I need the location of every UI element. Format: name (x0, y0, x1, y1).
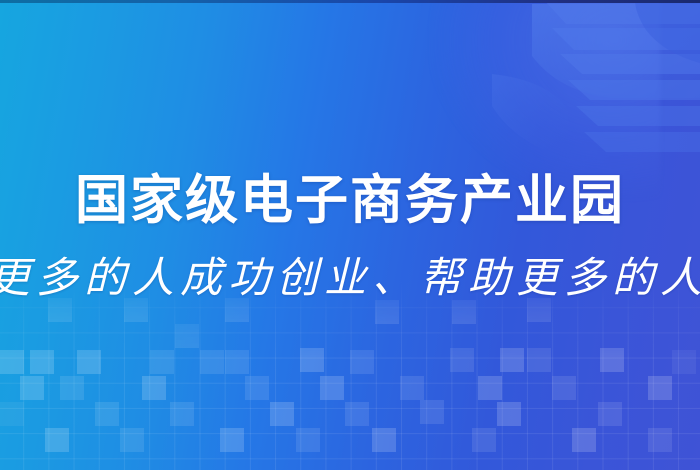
mosaic-cell (120, 428, 144, 452)
mosaic-cell (372, 428, 396, 452)
mosaic-cell (200, 350, 224, 374)
stacked-layers-svg (440, 0, 700, 214)
mosaic-cell (648, 376, 672, 400)
mosaic-cell (296, 428, 320, 452)
top-accent-strip (0, 0, 700, 3)
mosaic-cell (300, 348, 324, 372)
mosaic-cell (220, 428, 244, 452)
mosaic-cell (30, 350, 54, 374)
mosaic-cell (478, 376, 502, 400)
mosaic-cell (170, 402, 194, 426)
mosaic-cell (472, 428, 496, 452)
mosaic-cell (60, 376, 84, 400)
mosaic-cell (648, 428, 672, 452)
mosaic-cell (572, 428, 596, 452)
mosaic-cell (500, 348, 524, 372)
mosaic-cell (400, 376, 424, 400)
mosaic-cell (142, 376, 166, 400)
mosaic-cell (350, 350, 374, 374)
mosaic-cell (375, 300, 399, 324)
mosaic-cell (0, 402, 24, 426)
mosaic-cell (672, 350, 696, 374)
mosaic-cell (225, 298, 249, 322)
mosaic-cell (600, 348, 624, 372)
mosaic-cell (598, 402, 622, 426)
mosaic-cell (497, 402, 521, 426)
mosaic-cell (150, 350, 174, 374)
mosaic-cell (20, 376, 44, 400)
mosaic-cell (345, 402, 369, 426)
mosaic-cell (225, 350, 249, 374)
mosaic-cell (527, 348, 551, 372)
mosaic-cell (420, 400, 444, 424)
mosaic-cell (77, 350, 101, 374)
mosaic-cell (270, 402, 294, 426)
mosaic-cell (527, 298, 551, 322)
mosaic-cell (245, 376, 269, 400)
mosaic-cell (95, 402, 119, 426)
mosaic-cell (48, 298, 72, 322)
mosaic-highlight-cells (0, 280, 700, 470)
mosaic-cell (450, 348, 474, 372)
mosaic-cell (552, 376, 576, 400)
mosaic-cell (124, 298, 148, 322)
mosaic-cell (45, 428, 69, 452)
stacked-layers-graphic (440, 0, 700, 214)
mosaic-cell (452, 300, 476, 324)
mosaic-cell (175, 324, 199, 348)
mosaic-cell (0, 350, 24, 374)
promotional-banner: 国家级电子商务产业园 让更多的人成功创业、帮助更多的人创业 (0, 0, 700, 470)
mosaic-cell (320, 376, 344, 400)
